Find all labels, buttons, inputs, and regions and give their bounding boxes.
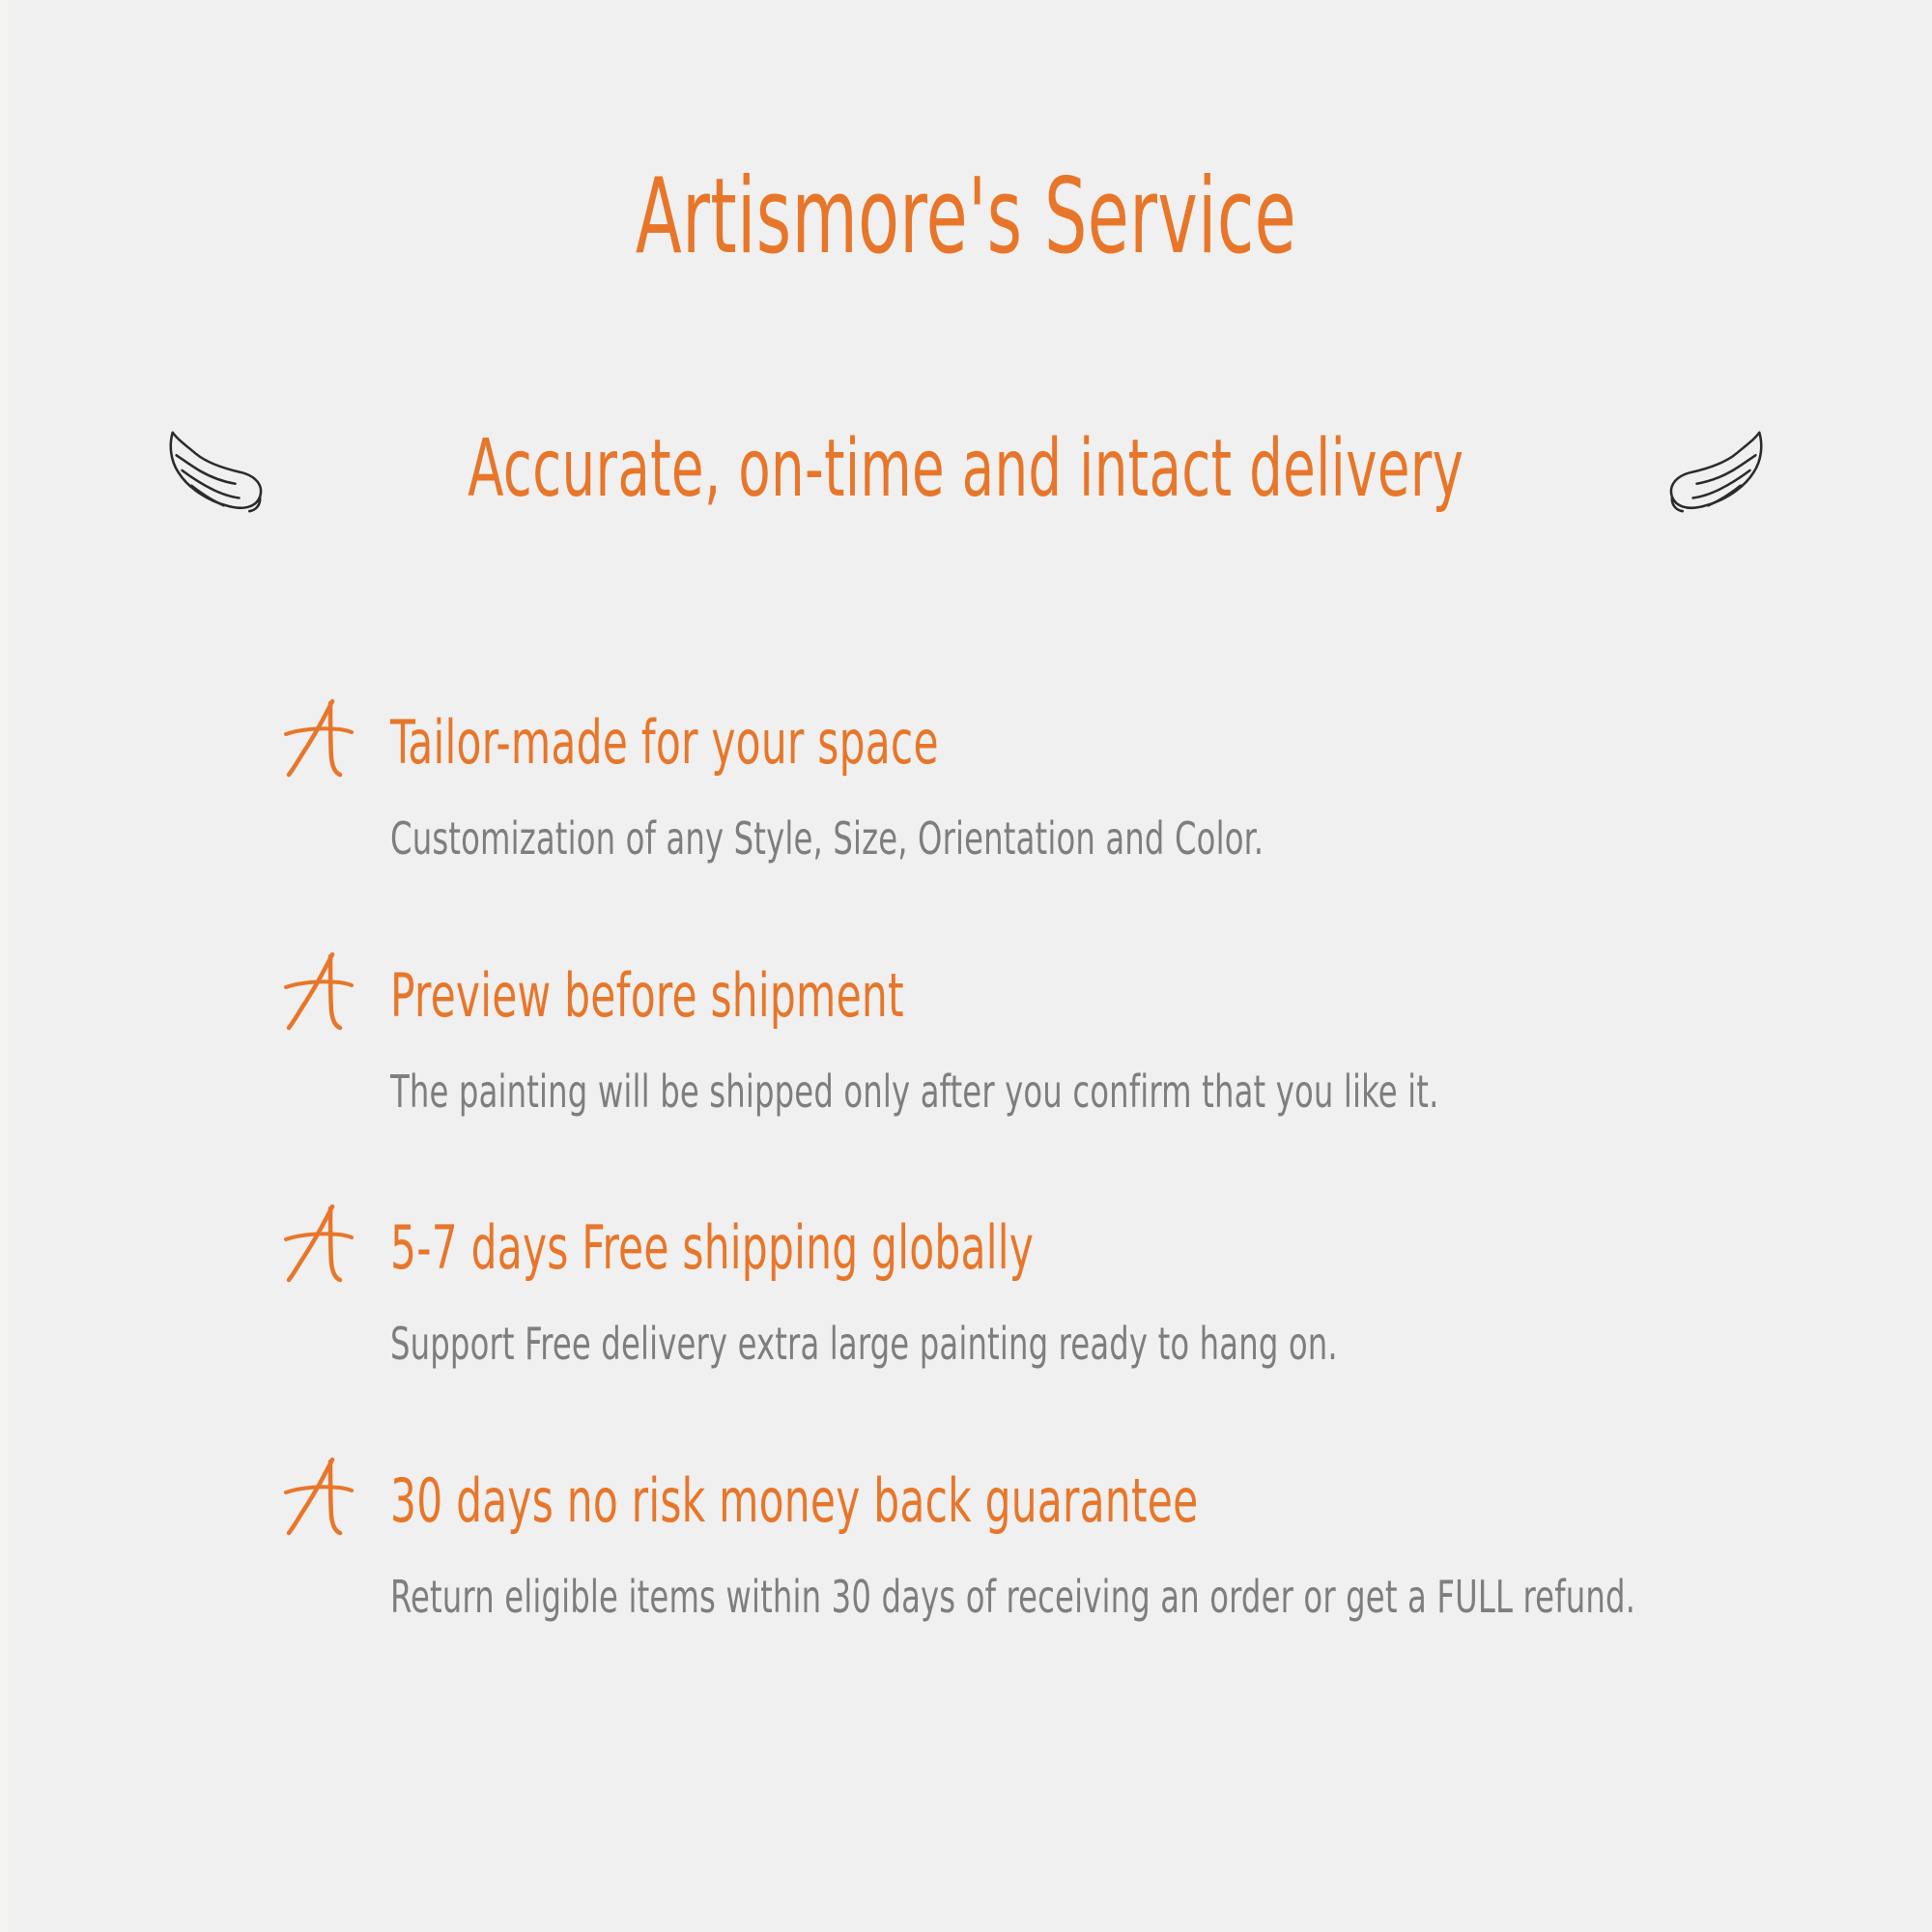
service-promo-page: Artismore's Service Accurate, on-time an…	[0, 0, 1932, 1932]
script-a-icon	[282, 951, 359, 1036]
wing-left-icon	[154, 417, 268, 522]
feature-item: Preview before shipment The painting wil…	[282, 964, 1847, 1117]
feature-description: Return eligible items within 30 days of …	[390, 1573, 1526, 1622]
script-a-icon	[282, 1456, 359, 1541]
feature-item: 30 days no risk money back guarantee Ret…	[282, 1469, 1847, 1622]
feature-title: Tailor-made for your space	[390, 711, 1497, 774]
subtitle-row: Accurate, on-time and intact delivery	[0, 417, 1932, 522]
page-title: Artismore's Service	[270, 162, 1662, 271]
feature-item: Tailor-made for your space Customization…	[282, 711, 1847, 864]
feature-body: Tailor-made for your space Customization…	[390, 711, 1847, 864]
feature-title: 30 days no risk money back guarantee	[390, 1469, 1497, 1532]
wing-right-icon	[1664, 417, 1778, 522]
feature-body: Preview before shipment The painting wil…	[390, 964, 1847, 1117]
feature-description: Support Free delivery extra large painti…	[390, 1320, 1526, 1369]
feature-description: The painting will be shipped only after …	[390, 1067, 1526, 1117]
feature-body: 5-7 days Free shipping globally Support …	[390, 1216, 1847, 1369]
feature-description: Customization of any Style, Size, Orient…	[390, 814, 1526, 864]
script-a-icon	[282, 1203, 359, 1288]
feature-title: 5-7 days Free shipping globally	[390, 1216, 1497, 1279]
script-a-icon	[282, 697, 359, 782]
feature-list: Tailor-made for your space Customization…	[282, 711, 1847, 1622]
feature-item: 5-7 days Free shipping globally Support …	[282, 1216, 1847, 1369]
feature-title: Preview before shipment	[390, 964, 1497, 1027]
page-subtitle: Accurate, on-time and intact delivery	[468, 430, 1463, 509]
feature-body: 30 days no risk money back guarantee Ret…	[390, 1469, 1847, 1622]
